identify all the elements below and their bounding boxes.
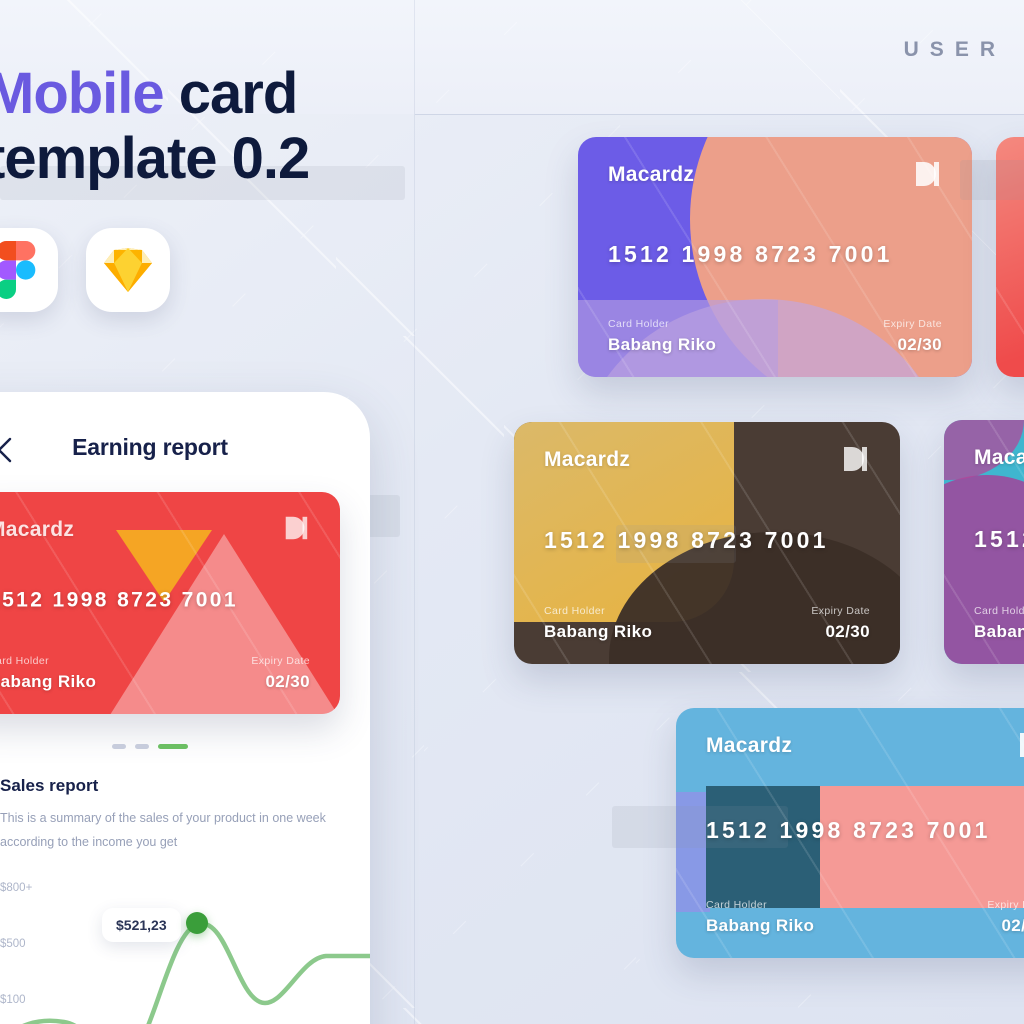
card-holder-label: Card Holder [974, 605, 1024, 617]
card-expiry-label: Expiry Date [811, 605, 870, 617]
card-holder-name: Babang Riko [974, 622, 1024, 642]
card-holder-label: Card Holder [608, 318, 716, 330]
brown-card-holder: Card Holder Babang Riko [544, 605, 652, 642]
page-title-accent: Mobile [0, 61, 164, 126]
sketch-icon [103, 247, 153, 293]
red-card-phone-number: 1512 1998 8723 7001 [0, 589, 310, 613]
red-card-phone-brand: Macardz [0, 518, 74, 542]
red-card-phone[interactable]: Macardz 1512 1998 8723 7001 Card Holder … [0, 492, 340, 714]
screen-title: Earning report [0, 434, 370, 461]
chart-highlight-dot[interactable] [186, 912, 208, 934]
hero-heading: Mobile card template 0.2 [0, 62, 416, 192]
purple-card-holder: Card Holder Babang Riko [608, 318, 716, 355]
card-holder-name: Babang Riko [608, 335, 716, 355]
card-expiry-label: Expiry Date [883, 318, 942, 330]
card-expiry-label: Expiry Date [251, 655, 310, 667]
brown-card-number: 1512 1998 8723 7001 [544, 527, 870, 554]
teal-card[interactable]: Macardz 1512 1998 8723 7001 Card Holder … [944, 420, 1024, 664]
background-horizontal-rule [415, 114, 1024, 115]
design-preview-canvas: Mobile card template 0.2 [0, 0, 1024, 1024]
card-logo-icon [282, 514, 310, 547]
blue-card-number: 1512 1998 8723 7001 [706, 817, 1024, 844]
pagination-dot[interactable] [135, 744, 149, 749]
blue-card-brand: Macardz [706, 734, 792, 758]
card-holder-name: Babang Riko [706, 916, 814, 936]
purple-card-expiry: Expiry Date 02/30 [883, 318, 942, 355]
card-holder-label: Card Holder [544, 605, 652, 617]
figma-icon-tile[interactable] [0, 228, 58, 312]
red-card-phone-holder: Card Holder Babang Riko [0, 655, 96, 692]
teal-card-brand: Macardz [974, 446, 1024, 470]
figma-icon [0, 241, 36, 299]
purple-card[interactable]: Macardz 1512 1998 8723 7001 Card Holder … [578, 137, 972, 377]
sketch-icon-tile[interactable] [86, 228, 170, 312]
pagination-dot[interactable] [112, 744, 126, 749]
blue-card-holder: Card Holder Babang Riko [706, 899, 814, 936]
card-holder-label: Card Holder [706, 899, 814, 911]
blue-card-expiry: Expiry Date 02/30 [987, 899, 1024, 936]
page-title: Mobile card template 0.2 [0, 62, 416, 192]
card-expiry-value: 02/30 [883, 335, 942, 355]
page-title-line2: template 0.2 [0, 126, 309, 191]
brown-card-brand: Macardz [544, 448, 630, 472]
chart-line [0, 872, 370, 1024]
phone-mockup: Earning report Macardz 1512 1998 8723 70… [0, 392, 370, 1024]
red-card-phone-expiry: Expiry Date 02/30 [251, 655, 310, 692]
sales-report-description: This is a summary of the sales of your p… [0, 806, 330, 855]
purple-card-number: 1512 1998 8723 7001 [608, 241, 942, 268]
page-title-rest: card [164, 61, 298, 126]
carousel-pagination[interactable] [0, 744, 370, 749]
card-expiry-value: 02/30 [251, 672, 310, 692]
pagination-dot-active[interactable] [158, 744, 188, 749]
teal-card-holder: Card Holder Babang Riko [974, 605, 1024, 642]
card-expiry-value: 02/30 [811, 622, 870, 642]
card-expiry-label: Expiry Date [987, 899, 1024, 911]
sales-report-title: Sales report [0, 776, 98, 796]
card-logo-icon [912, 159, 942, 194]
card-holder-name: Babang Riko [0, 672, 96, 692]
user-label: USER [904, 38, 1006, 62]
sales-chart: $800+ $500 $100 $521,23 [0, 872, 370, 1024]
card-holder-label: Card Holder [0, 655, 96, 667]
teal-card-number: 1512 1998 8723 7001 [974, 526, 1024, 553]
chart-tooltip: $521,23 [102, 908, 181, 942]
app-icon-list [0, 228, 170, 312]
card-logo-icon [1016, 730, 1024, 765]
brown-card[interactable]: Macardz 1512 1998 8723 7001 Card Holder … [514, 422, 900, 664]
card-logo-icon [840, 444, 870, 479]
card-holder-name: Babang Riko [544, 622, 652, 642]
card-expiry-value: 02/30 [987, 916, 1024, 936]
brown-card-expiry: Expiry Date 02/30 [811, 605, 870, 642]
red-card-edge[interactable]: Macardz 1512 1998 8723 7001 [996, 137, 1024, 377]
purple-card-brand: Macardz [608, 163, 694, 187]
blue-card[interactable]: Macardz 1512 1998 8723 7001 Card Holder … [676, 708, 1024, 958]
